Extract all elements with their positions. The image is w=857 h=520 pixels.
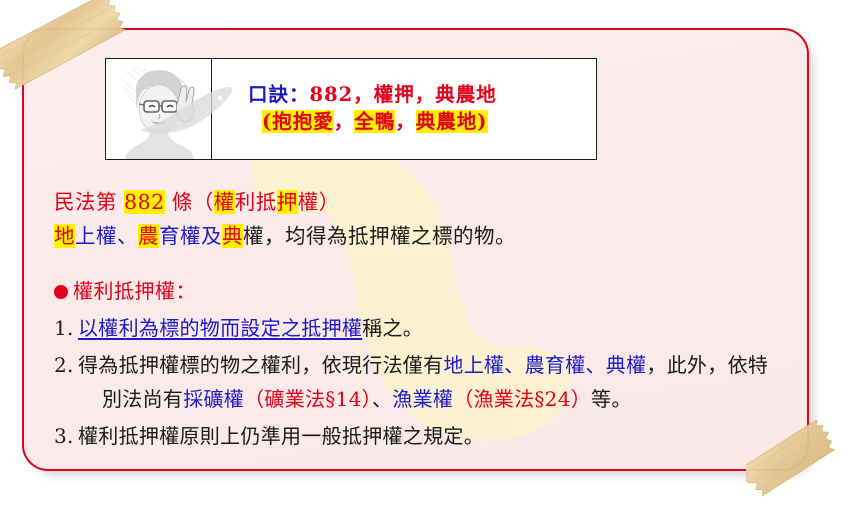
- item2-blue-fishery: 漁業權: [392, 387, 453, 411]
- mnemonic-hl-3: 典農地): [416, 110, 488, 133]
- list-item-marker: 2.: [54, 349, 78, 415]
- item2-line2: 別法尚有採礦權（礦業法§14）、漁業權（漁業法§24）等。: [102, 383, 794, 416]
- law-body-t3: 權，均得為抵押權之標的物。: [243, 224, 516, 248]
- section-heading: 權利抵押權：: [54, 275, 794, 308]
- body-text: 民法第 882 條（權利抵押權） 地上權、農育權及典權，均得為抵押權之標的物。 …: [54, 185, 794, 453]
- mnemonic-hl-2: 全鴨: [354, 110, 395, 133]
- note-card: 口訣：882，權押，典農地 (抱抱愛，全鴨，典農地) 民法第 882 條（權利抵…: [22, 28, 809, 471]
- mnemonic-line1-red: 882，權押，典農地: [310, 83, 497, 106]
- law-article-body: 地上權、農育權及典權，均得為抵押權之標的物。: [54, 219, 794, 253]
- mnemonic-hl-1: (抱抱愛: [262, 110, 334, 133]
- list-item: 1. 以權利為標的物而設定之抵押權稱之。: [54, 312, 794, 345]
- portrait-sketch-icon: [106, 59, 212, 159]
- mnemonic-box: 口訣：882，權押，典農地 (抱抱愛，全鴨，典農地): [105, 58, 597, 160]
- law-title-kw3: 押: [277, 190, 298, 214]
- item2-seg1: 得為抵押權標的物之權利，依現行法僅有: [78, 353, 443, 377]
- list-item-marker: 3.: [54, 420, 78, 453]
- item2-line2-tail: 等。: [591, 387, 632, 411]
- law-title-number: 882: [124, 190, 165, 214]
- law-body-t2: 育權及: [159, 224, 222, 248]
- mnemonic-text: 口訣：882，權押，典農地 (抱抱愛，全鴨，典農地): [212, 59, 596, 159]
- item1-underlined: 以權利為標的物而設定之抵押權: [78, 316, 362, 340]
- item2-seg2-blue: 地上權、農育權、典權: [443, 353, 646, 377]
- item1-tail: 稱之。: [362, 316, 423, 340]
- list-item-body: 權利抵押權原則上仍準用一般抵押權之規定。: [78, 420, 794, 453]
- item2-blue-mining: 採礦權: [183, 387, 244, 411]
- law-body-hl1: 地: [54, 224, 75, 248]
- item2-red-mining-law: （礦業法§14）: [244, 387, 372, 411]
- mnemonic-label: 口訣：: [248, 83, 310, 106]
- item2-seg3: ，此外，依特: [646, 353, 768, 377]
- law-body-t1: 上權、: [75, 224, 138, 248]
- list-item: 3. 權利抵押權原則上仍準用一般抵押權之規定。: [54, 420, 794, 453]
- law-title-kw4: 權）: [298, 190, 340, 214]
- law-title-kw1: 權: [214, 190, 235, 214]
- list-item-body: 以權利為標的物而設定之抵押權稱之。: [78, 312, 794, 345]
- section-heading-label: 權利抵押權：: [73, 275, 196, 308]
- mnemonic-sep-2: ，: [395, 110, 416, 133]
- law-article-title: 民法第 882 條（權利抵押權）: [54, 185, 794, 219]
- law-title-kw2: 利抵: [235, 190, 277, 214]
- item2-line2-a: 別法尚有: [102, 387, 183, 411]
- item2-red-fishery-law: （漁業法§24）: [453, 387, 591, 411]
- mnemonic-line-2: (抱抱愛，全鴨，典農地): [262, 110, 596, 135]
- list-item-marker: 1.: [54, 312, 78, 345]
- mnemonic-line-1: 口訣：882，權押，典農地: [248, 83, 596, 108]
- law-body-hl3: 典: [222, 224, 243, 248]
- item2-line2-mid: 、: [372, 387, 392, 411]
- bullet-dot-icon: [54, 285, 68, 299]
- law-title-mid: 條（: [165, 190, 214, 214]
- law-title-prefix: 民法第: [54, 190, 124, 214]
- list-item-body: 得為抵押權標的物之權利，依現行法僅有地上權、農育權、典權，此外，依特別法尚有採礦…: [78, 349, 794, 415]
- portrait-cell: [106, 59, 212, 159]
- law-body-hl2: 農: [138, 224, 159, 248]
- spacer: [54, 253, 794, 275]
- list-item: 2. 得為抵押權標的物之權利，依現行法僅有地上權、農育權、典權，此外，依特別法尚…: [54, 349, 794, 415]
- mnemonic-sep-1: ，: [334, 110, 355, 133]
